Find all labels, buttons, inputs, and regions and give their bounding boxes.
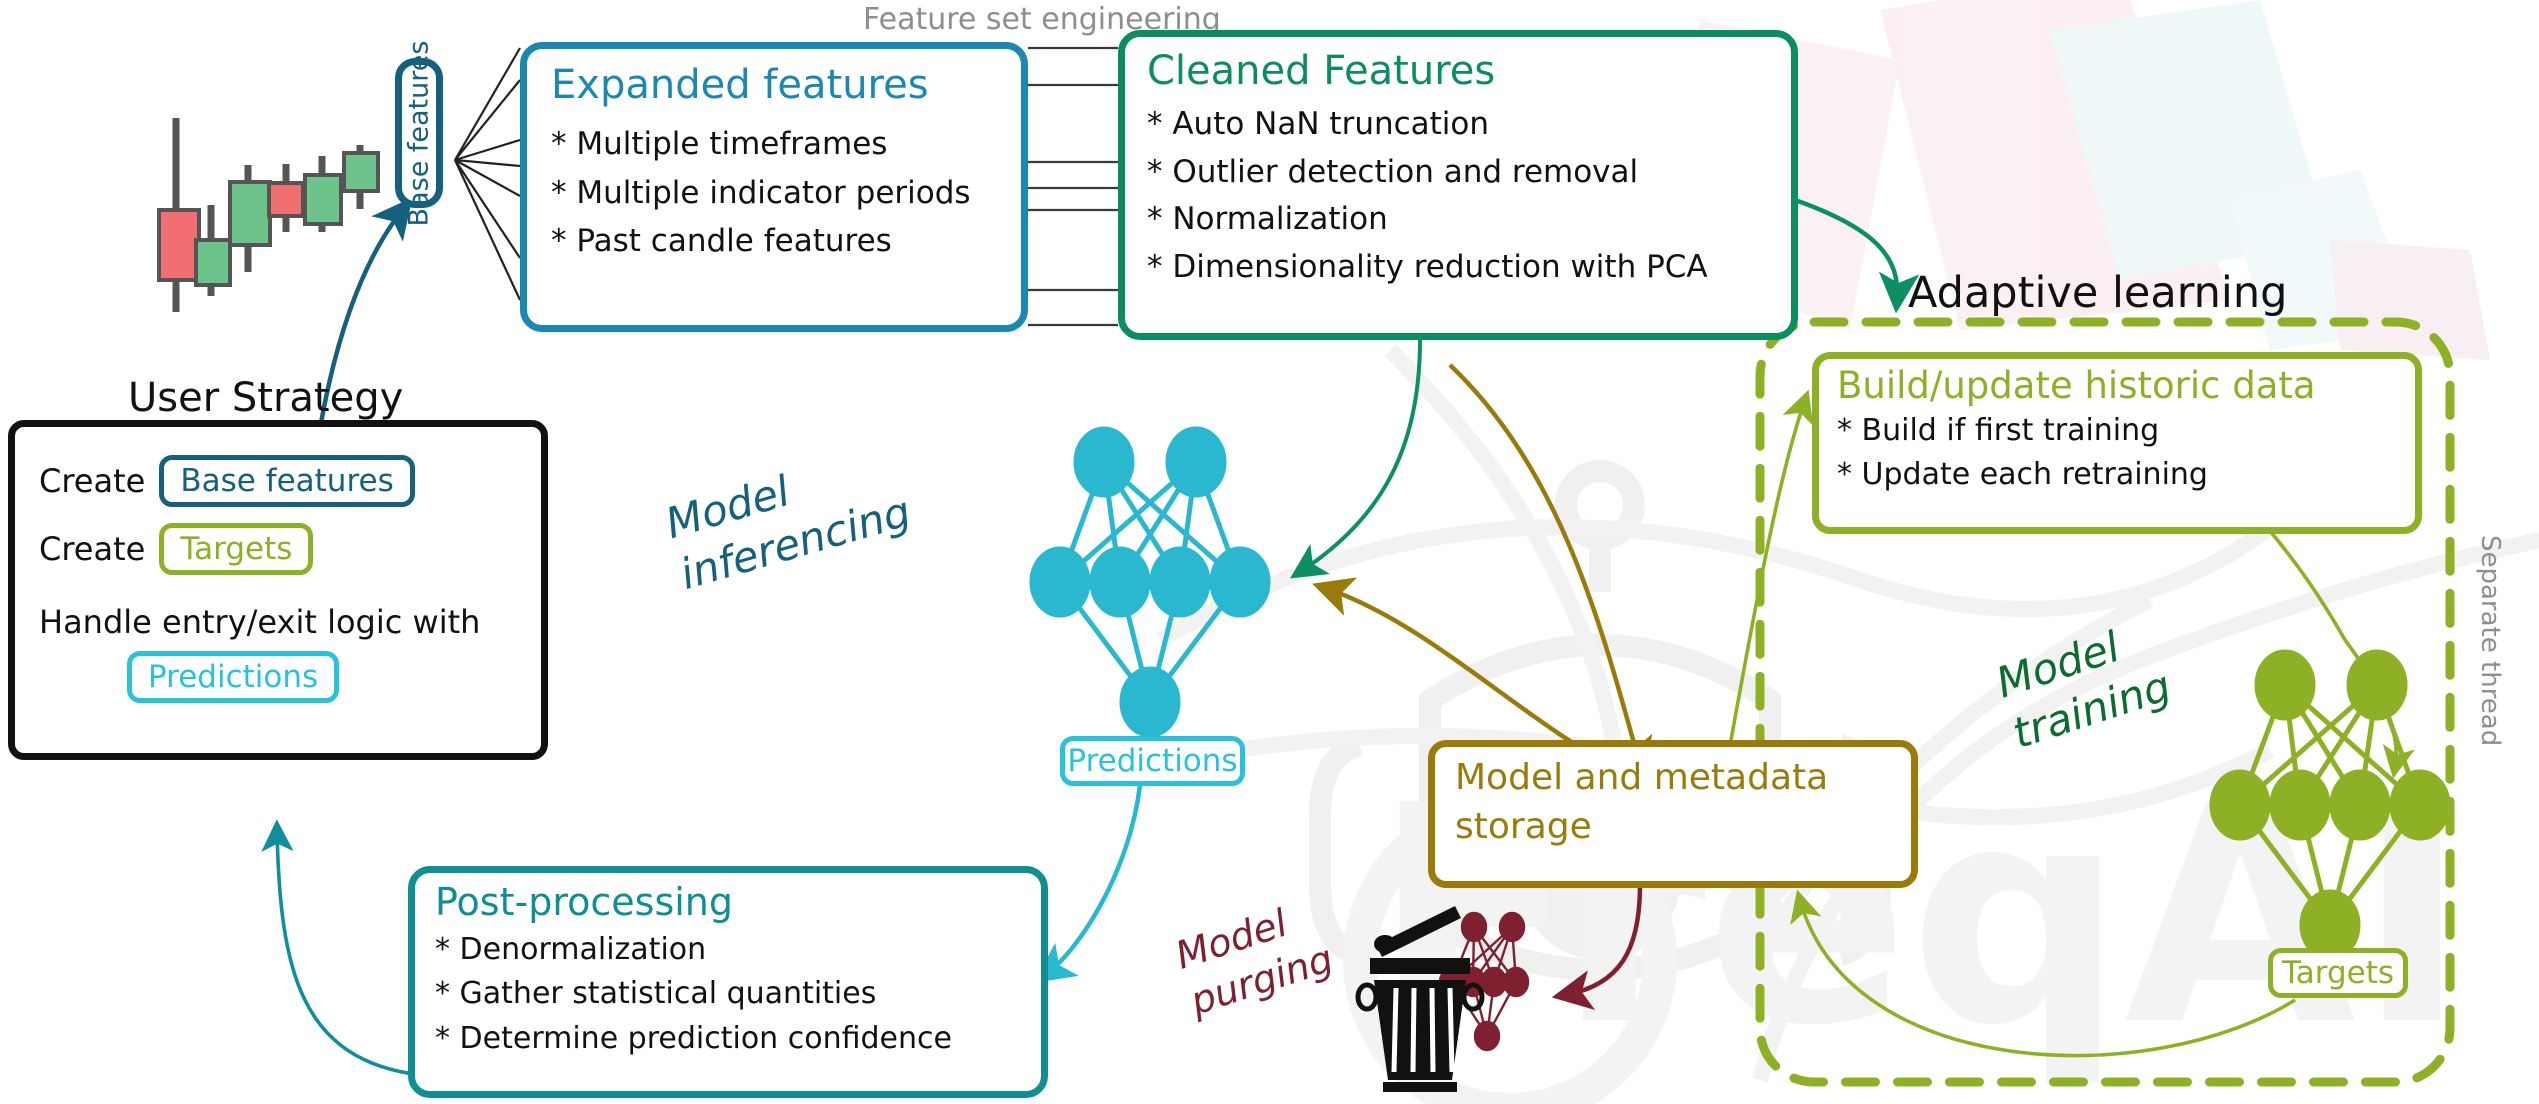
build-update-box[interactable]: Build/update historic data * Build if fi… [1812,352,2422,534]
expanded-features-title: Expanded features [551,65,1021,105]
bullet-item: * Normalization [1147,200,1791,240]
base-features-pill-strategy[interactable]: Base features [159,455,414,507]
bullet-item: * Multiple timeframes [551,125,1021,165]
create-targets-prefix: Create [39,530,145,568]
bullet-item: * Dimensionality reduction with PCA [1147,248,1791,288]
entry-exit-logic-text: Handle entry/exit logic with [39,603,541,641]
build-update-title: Build/update historic data [1837,367,2415,404]
bullet-item: * Build if first training [1837,412,2415,450]
bullet-item: * Update each retraining [1837,456,2415,494]
diagram-canvas: FreqAI [0,0,2539,1104]
expanded-features-bullets: * Multiple timeframes * Multiple indicat… [551,125,1021,262]
build-update-bullets: * Build if first training * Update each … [1837,412,2415,495]
expanded-features-box[interactable]: Expanded features * Multiple timeframes … [520,42,1028,332]
bullet-item: * Past candle features [551,222,1021,262]
separate-thread-label: Separate thread [2475,535,2505,746]
targets-pill-training[interactable]: Targets [2268,948,2408,998]
bullet-item: * Denormalization [435,931,1041,969]
model-storage-box[interactable]: Model and metadata storage [1428,740,1918,888]
post-processing-title: Post-processing [435,883,1041,921]
cleaned-features-box[interactable]: Cleaned Features * Auto NaN truncation *… [1118,30,1798,340]
create-base-features-prefix: Create [39,462,145,500]
model-storage-line1: Model and metadata [1455,757,1911,798]
model-storage-line2: storage [1455,806,1911,847]
targets-pill-strategy[interactable]: Targets [159,523,313,575]
cleaned-features-title: Cleaned Features [1147,51,1791,91]
predictions-pill-strategy[interactable]: Predictions [127,651,339,703]
bullet-item: * Gather statistical quantities [435,975,1041,1013]
bullet-item: * Multiple indicator periods [551,174,1021,214]
user-strategy-box[interactable]: Create Base features Create Targets Hand… [8,420,548,760]
post-processing-box[interactable]: Post-processing * Denormalization * Gath… [408,866,1048,1098]
bullet-item: * Determine prediction confidence [435,1020,1041,1058]
predictions-pill-inference[interactable]: Predictions [1060,736,1245,786]
post-processing-bullets: * Denormalization * Gather statistical q… [435,931,1041,1058]
user-strategy-title: User Strategy [128,375,403,421]
adaptive-learning-label: Adaptive learning [1908,268,2287,318]
bullet-item: * Auto NaN truncation [1147,105,1791,145]
base-features-pill-vertical[interactable]: Base features [395,58,443,208]
cleaned-features-bullets: * Auto NaN truncation * Outlier detectio… [1147,105,1791,288]
bullet-item: * Outlier detection and removal [1147,153,1791,193]
base-features-pill-label: Base features [404,40,435,226]
